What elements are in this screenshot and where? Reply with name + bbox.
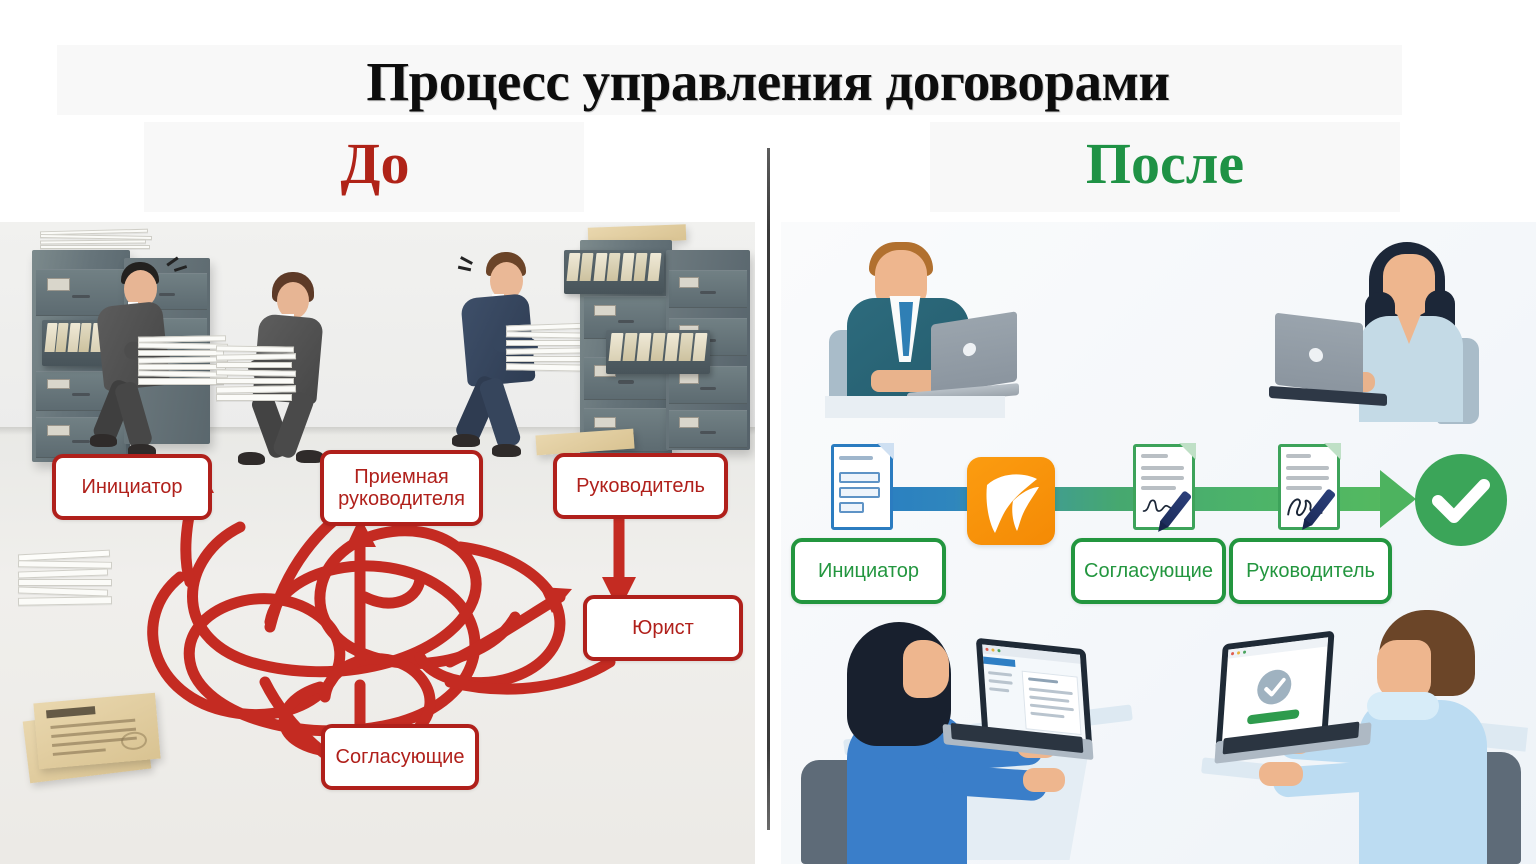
before-panel: Инициатор Приемная руководителя Руководи… <box>0 222 755 864</box>
before-node-reception-label-line2: руководителя <box>338 488 465 510</box>
screen-approved-bar <box>1247 709 1300 725</box>
second-filing-cabinet-icon <box>570 222 755 462</box>
after-panel: Инициатор Согласующие Руководитель <box>781 222 1536 864</box>
before-node-initiator-label: Инициатор <box>81 476 182 498</box>
app-logo-icon <box>967 457 1055 545</box>
paper-stack-on-cabinet <box>40 230 150 252</box>
screen-check-circle-icon <box>1256 668 1292 707</box>
stress-marks-icon <box>162 258 188 280</box>
paper-stack-icon <box>18 552 114 614</box>
carried-paper-stack <box>138 336 228 388</box>
after-node-initiator-label: Инициатор <box>818 560 919 582</box>
before-node-reception[interactable]: Приемная руководителя <box>320 450 483 526</box>
before-node-lawyer-label: Юрист <box>632 617 694 639</box>
before-node-director[interactable]: Руководитель <box>553 453 728 519</box>
businessman-with-laptop-figure <box>811 230 1041 430</box>
stress-marks-icon <box>458 256 484 278</box>
process-flow-arrowhead <box>1380 470 1416 528</box>
slide-canvas: Процесс управления договорами До После <box>0 0 1536 864</box>
signed-document-icon <box>1133 444 1195 530</box>
running-clerk-figure <box>66 262 196 472</box>
form-document-icon <box>831 444 893 530</box>
before-heading: До <box>210 130 540 197</box>
before-node-approvers-label: Согласующие <box>336 746 465 768</box>
woman-typing-laptop-figure <box>791 610 1151 864</box>
after-node-approvers[interactable]: Согласующие <box>1071 538 1226 604</box>
page-title: Процесс управления договорами <box>0 50 1536 113</box>
column-divider <box>767 148 770 830</box>
success-check-badge <box>1415 454 1507 546</box>
carried-paper-stack <box>216 346 296 404</box>
signed-document-icon <box>1278 444 1340 530</box>
app-logo-tile[interactable] <box>967 457 1055 545</box>
after-heading: После <box>990 130 1340 197</box>
before-node-director-label: Руководитель <box>576 475 705 497</box>
after-node-director-label: Руководитель <box>1246 560 1375 582</box>
open-drawer-middle <box>606 330 710 374</box>
check-icon <box>1415 454 1507 546</box>
before-node-reception-label-line1: Приемная <box>354 466 449 488</box>
document-list-screen <box>982 644 1086 739</box>
man-typing-laptop-figure <box>1171 604 1536 864</box>
before-node-initiator[interactable]: Инициатор <box>52 454 212 520</box>
after-node-director[interactable]: Руководитель <box>1229 538 1392 604</box>
after-node-initiator[interactable]: Инициатор <box>791 538 946 604</box>
open-drawer-top <box>564 250 664 294</box>
woman-with-laptop-figure <box>1261 232 1511 432</box>
after-node-approvers-label: Согласующие <box>1084 560 1213 582</box>
before-node-lawyer[interactable]: Юрист <box>583 595 743 661</box>
before-node-approvers[interactable]: Согласующие <box>321 724 479 790</box>
